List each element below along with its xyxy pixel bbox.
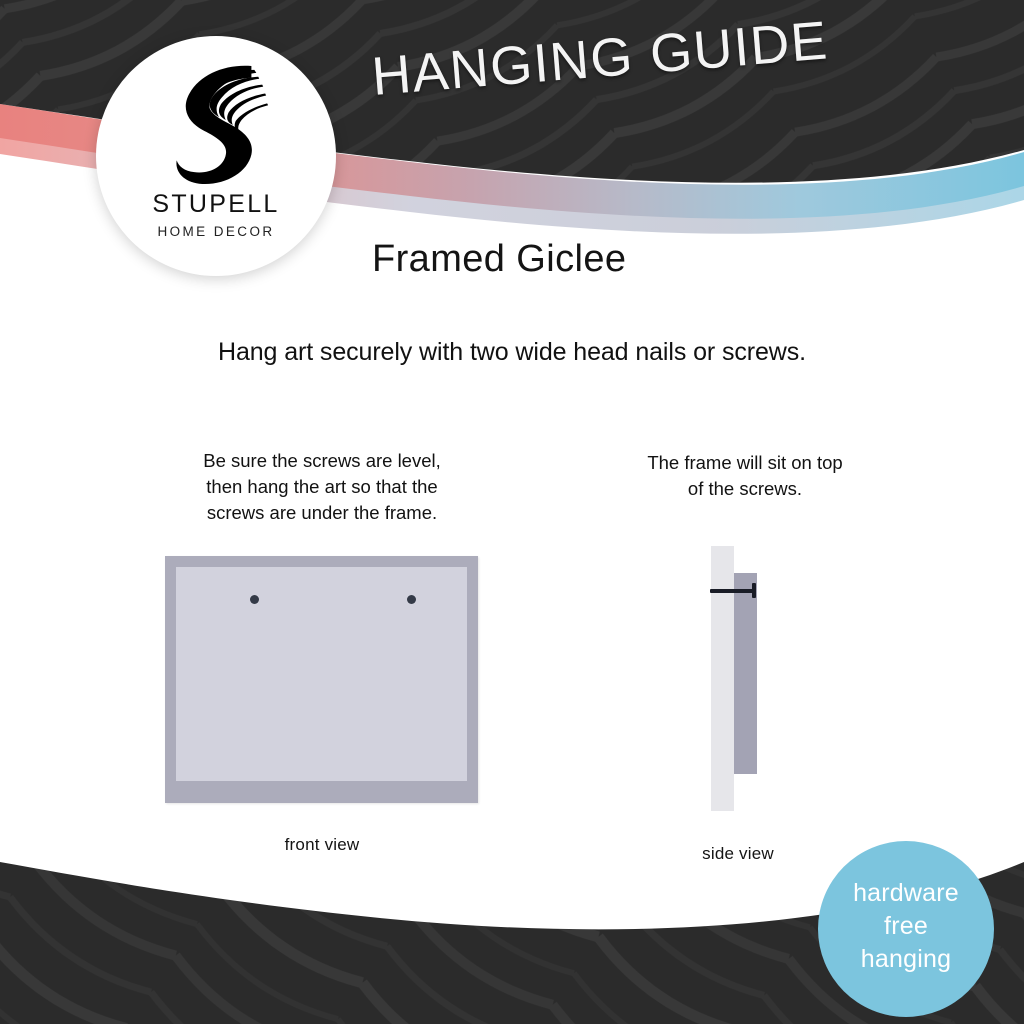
- brand-name: STUPELL: [152, 190, 279, 219]
- side-view-caption: The frame will sit on top of the screws.: [600, 450, 890, 502]
- nail-head-icon: [752, 583, 756, 598]
- hanging-guide-page: STUPELL HOME DECOR HANGING GUIDE Framed …: [0, 0, 1024, 1024]
- front-view-mat: [176, 567, 467, 781]
- badge-line-2: free: [884, 910, 928, 943]
- lead-instruction: Hang art securely with two wide head nai…: [0, 338, 1024, 367]
- page-title: HANGING GUIDE: [370, 9, 831, 107]
- side-view-wall: [711, 546, 734, 811]
- screw-dot-left: [250, 595, 259, 604]
- nail-shaft-icon: [710, 589, 756, 593]
- side-view-diagram: [705, 546, 771, 811]
- badge-line-1: hardware: [853, 877, 959, 910]
- brand-logo-badge: STUPELL HOME DECOR: [96, 36, 336, 276]
- hardware-free-hanging-badge: hardware free hanging: [818, 841, 994, 1017]
- screw-dot-right: [407, 595, 416, 604]
- front-view-diagram: [165, 556, 478, 803]
- brand-tagline: HOME DECOR: [157, 224, 274, 239]
- badge-line-3: hanging: [861, 943, 951, 976]
- product-title: Framed Giclee: [372, 238, 626, 281]
- front-view-label: front view: [202, 835, 442, 855]
- front-view-caption: Be sure the screws are level, then hang …: [142, 448, 502, 526]
- side-view-label: side view: [648, 844, 828, 864]
- stupell-swoosh-icon: [157, 58, 275, 186]
- side-view-frame: [734, 573, 757, 774]
